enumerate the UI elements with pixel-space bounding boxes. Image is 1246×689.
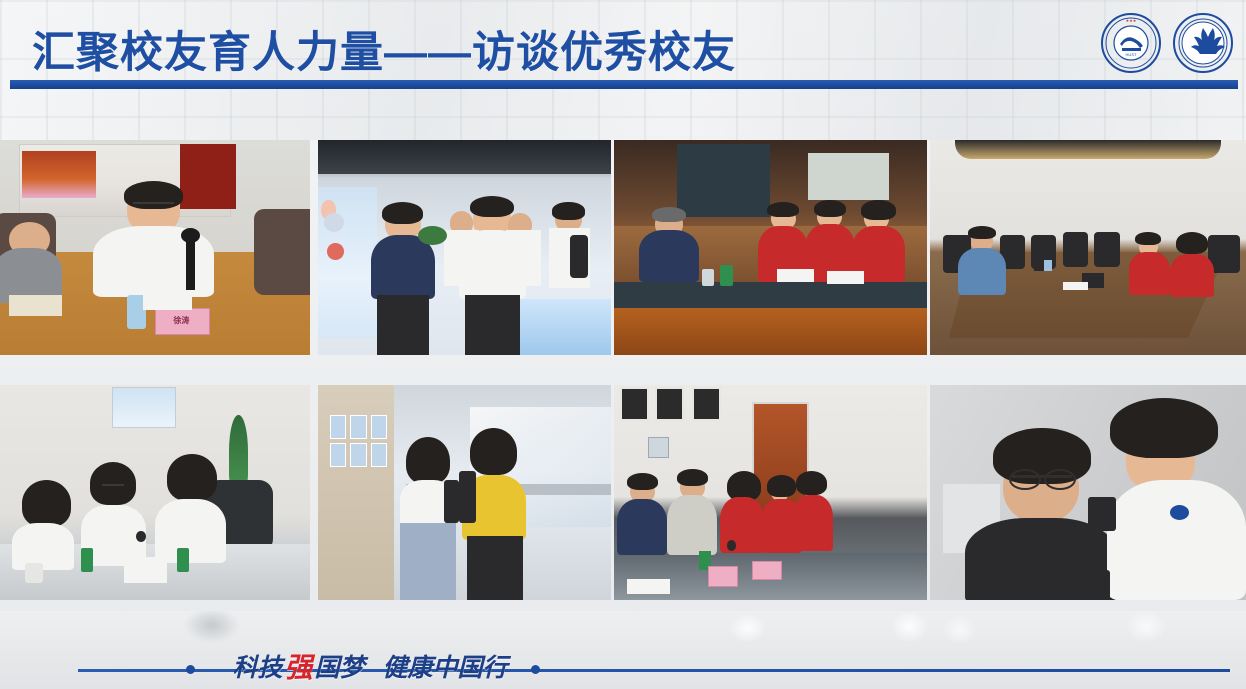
photo-card[interactable]: 访谈亚辉龙刘金枝 xyxy=(0,385,310,630)
photo-row-bottom: 访谈亚辉龙刘金枝 xyxy=(0,385,1246,600)
svg-text:HUST: HUST xyxy=(1126,52,1137,57)
footer-dot-left-icon xyxy=(186,665,195,674)
photo-card[interactable]: 访谈鱼多康张子昂 xyxy=(614,385,927,630)
page-title: 汇聚校友育人力量——访谈优秀校友 xyxy=(32,18,736,80)
slide-root: 汇聚校友育人力量——访谈优秀校友 HUST ★★★ xyxy=(0,0,1246,689)
photo-card[interactable]: 访谈裕策生物CEO高志博 xyxy=(318,140,611,385)
school-emblem-icon xyxy=(1172,12,1234,74)
photo-card[interactable]: 访谈华大基因蒋晓森 xyxy=(318,385,611,630)
logo-group: HUST ★★★ xyxy=(1100,12,1234,74)
photo-grid: 徐涛 访谈徐涛院士 xyxy=(0,140,1246,625)
title-underline-bar xyxy=(10,80,1238,89)
footer-slogan-part2: 国梦 xyxy=(315,648,365,684)
photo-image xyxy=(614,385,927,600)
nameplate-label: 徐涛 xyxy=(158,312,205,329)
photo-image xyxy=(614,140,927,355)
photo-card[interactable]: 访谈华大基因钱晓波 xyxy=(930,385,1246,630)
photo-image xyxy=(318,385,611,600)
footer-slogan: 科技 强 国梦 健康中国行 xyxy=(205,649,535,683)
footer-slogan-highlight: 强 xyxy=(284,646,312,686)
footer-slogan-part3: 健康中国行 xyxy=(383,648,508,684)
photo-image xyxy=(930,140,1246,355)
photo-card[interactable]: 访谈迈瑞部门总经理岑建 xyxy=(614,140,927,385)
photo-image xyxy=(318,140,611,355)
photo-image xyxy=(0,385,310,600)
slide-footer: 科技 强 国梦 健康中国行 xyxy=(0,625,1246,689)
slide-header: 汇聚校友育人力量——访谈优秀校友 HUST ★★★ xyxy=(0,0,1246,96)
photo-image: 徐涛 xyxy=(0,140,310,355)
university-emblem-icon: HUST ★★★ xyxy=(1100,12,1162,74)
photo-card[interactable]: 访谈新产业生产总监杜凯 xyxy=(930,140,1246,385)
svg-text:★★★: ★★★ xyxy=(1126,18,1137,23)
footer-slogan-part1: 科技 xyxy=(232,648,282,684)
photo-card[interactable]: 徐涛 访谈徐涛院士 xyxy=(0,140,310,385)
photo-row-top: 徐涛 访谈徐涛院士 xyxy=(0,140,1246,355)
photo-image xyxy=(930,385,1246,600)
